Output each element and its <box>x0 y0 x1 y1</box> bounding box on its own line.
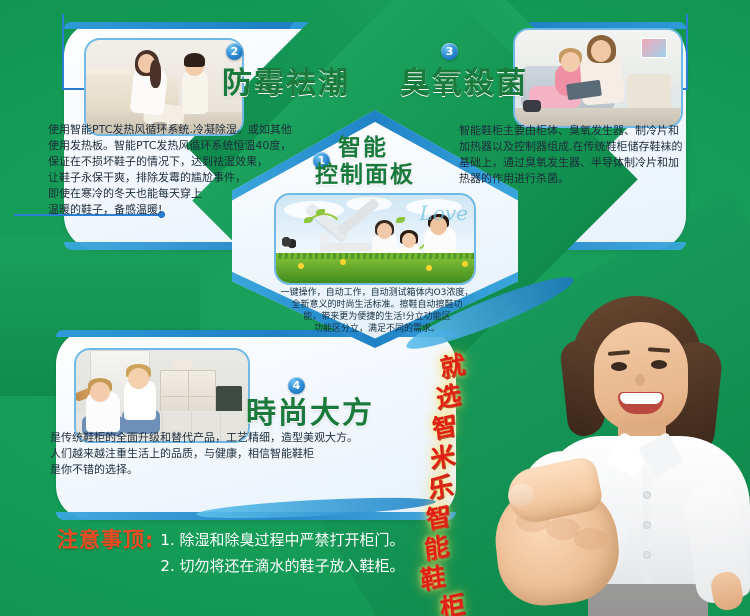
mother-and-girl-reading-photo <box>513 28 683 128</box>
notice-item: 2. 切勿将还在滴水的鞋子放入鞋柜。 <box>160 553 404 579</box>
notice-block: 注意事顶: 1. 除湿和除臭过程中严禁打开柜门。 2. 切勿将还在滴水的鞋子放入… <box>57 527 405 579</box>
card-body-2: 使用智能PTC发热风循环系统.冷凝除湿。或如其他 使用发热板。智能PTC发热风循… <box>48 122 348 218</box>
infographic-stage: Love 2 防霉祛潮 3 臭氧殺菌 1 智能 控制面板 4 時尚大方 使用智能… <box>0 0 750 616</box>
smiling-woman-pointing-photo <box>494 296 750 616</box>
notice-item: 1. 除湿和除臭过程中严禁打开柜门。 <box>160 527 404 553</box>
card-title-4: 時尚大方 <box>246 388 374 432</box>
card-body-4: 是传统鞋柜的全面升级和替代产品，工艺精细，造型美观大方。 人们越来越注重生活上的… <box>50 430 370 478</box>
two-kids-by-shoe-cabinet-photo <box>74 348 250 443</box>
card-title-2: 防霉祛潮 <box>222 58 350 102</box>
card-title-3: 臭氧殺菌 <box>400 58 528 102</box>
notice-items: 1. 除湿和除臭过程中严禁打开柜门。 2. 切勿将还在滴水的鞋子放入鞋柜。 <box>160 527 404 579</box>
slogan-char: 柜 <box>439 589 467 616</box>
slogan-vertical: 就 选 智 米 乐 智 能 鞋 柜 <box>436 352 465 616</box>
card-body-1: 一键操作，自动工作，自动测试箱体内O3浓度， 全新意义的时尚生活标准。擦鞋自动擦… <box>262 287 492 335</box>
photo-love-caption: Love <box>420 201 468 225</box>
card-body-3: 智能鞋柜主要由柜体、臭氧发生器、制冷片和 加热器以及控制器组成.在传统鞋柜储存鞋… <box>459 123 697 187</box>
notice-label: 注意事顶: <box>57 527 154 553</box>
